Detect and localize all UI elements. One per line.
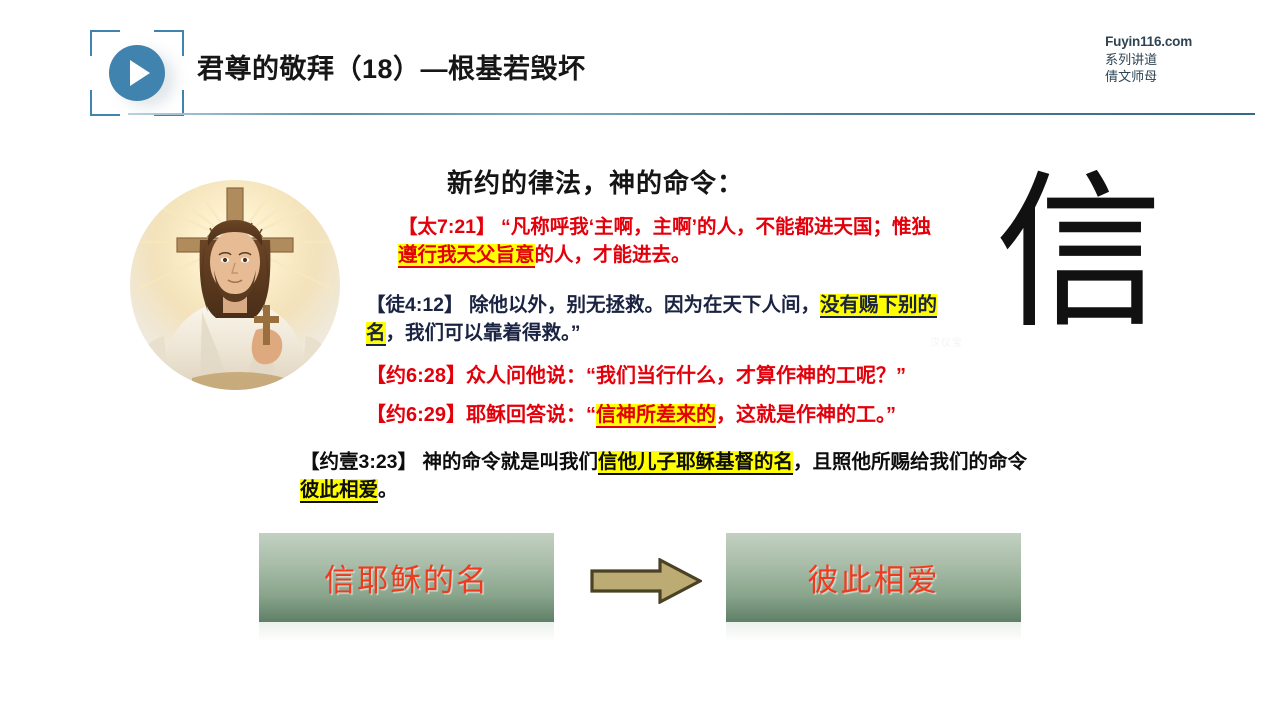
concept-box-love-one-another[interactable]: 彼此相爱 (726, 533, 1021, 622)
frame-edge-right-top (182, 30, 184, 56)
verse-text-part: “凡称呼我‘主啊，主啊’的人，不能都进天国；惟独 (501, 216, 931, 238)
box-reflection-left (259, 622, 554, 642)
verse-reference: 【太7:21】 (398, 216, 496, 238)
frame-corner-top-left (90, 30, 120, 32)
jesus-portrait-svg (130, 180, 340, 390)
play-triangle-icon (130, 60, 150, 86)
verse-1john-3-23: 【约壹3:23】 神的命令就是叫我们信他儿子耶稣基督的名，且照他所赐给我们的命令… (300, 449, 1030, 504)
right-arrow-icon (590, 558, 702, 604)
scripture-heading: 新约的律法，神的命令： (447, 163, 744, 200)
verse-text-part: 的人，才能进去。 (535, 244, 691, 266)
box-reflection-right (726, 622, 1021, 642)
verse-text-part: 众人问他说：“我们当行什么，才算作神的工呢？” (466, 365, 906, 387)
slide-header: 君尊的敬拜（18）—根基若毁坏 Fuyin116.com 系列讲道 倩文师母 (0, 0, 1280, 120)
brand-series: 系列讲道 (1105, 51, 1192, 68)
frame-edge-left-bottom (90, 90, 92, 116)
verse-text-part: 神的命令就是叫我们 (422, 451, 598, 473)
brand-speaker: 倩文师母 (1105, 68, 1192, 85)
frame-corner-bottom-left (90, 114, 120, 116)
verse-text-part: 。 (378, 479, 398, 501)
concept-box-label: 信耶稣的名 (324, 555, 489, 600)
concept-box-believe-name[interactable]: 信耶稣的名 (259, 533, 554, 622)
calligraphy-character-xin: 信 (995, 178, 1145, 343)
verse-highlight: 信他儿子耶稣基督的名 (598, 451, 793, 475)
verse-text-part: ，我们可以靠着得救。” (386, 322, 581, 344)
verse-matthew-7-21: 【太7:21】 “凡称呼我‘主啊，主啊’的人，不能都进天国；惟独遵行我天父旨意的… (398, 214, 934, 269)
jesus-portrait-image (130, 180, 340, 390)
verse-reference: 【徒4:12】 (366, 294, 464, 316)
frame-edge-left-top (90, 30, 92, 56)
verse-john-6-28: 【约6:28】众人问他说：“我们当行什么，才算作神的工呢？” (366, 362, 1046, 390)
verse-reference: 【约6:28】 (366, 365, 466, 387)
brand-block: Fuyin116.com 系列讲道 倩文师母 (1105, 33, 1192, 85)
right-arrow-svg (590, 558, 702, 604)
verse-acts-4-12: 【徒4:12】 除他以外，别无拯救。因为在天下人间，没有赐下别的名，我们可以靠着… (366, 292, 938, 347)
verse-text-part: ，且照他所赐给我们的命令 (793, 451, 1027, 473)
verse-john-6-29: 【约6:29】耶稣回答说：“信神所差来的，这就是作神的工。” (366, 401, 1046, 429)
verse-text-part: ，这就是作神的工。” (716, 404, 896, 426)
header-divider (128, 113, 1255, 115)
verse-highlight: 信神所差来的 (596, 404, 716, 428)
verse-text-part: 除他以外，别无拯救。因为在天下人间， (469, 294, 820, 316)
frame-corner-top-right (154, 30, 184, 32)
verse-reference: 【约壹3:23】 (300, 451, 417, 473)
verse-text-part: 耶稣回答说：“ (466, 404, 596, 426)
concept-box-label: 彼此相爱 (808, 555, 940, 600)
logo-frame (90, 30, 184, 116)
page-title: 君尊的敬拜（18）—根基若毁坏 (197, 47, 586, 86)
verse-reference: 【约6:29】 (366, 404, 466, 426)
play-button-icon[interactable] (109, 45, 165, 101)
verse-highlight: 遵行我天父旨意 (398, 244, 535, 268)
verse-highlight: 彼此相爱 (300, 479, 378, 503)
brand-site: Fuyin116.com (1105, 33, 1192, 51)
